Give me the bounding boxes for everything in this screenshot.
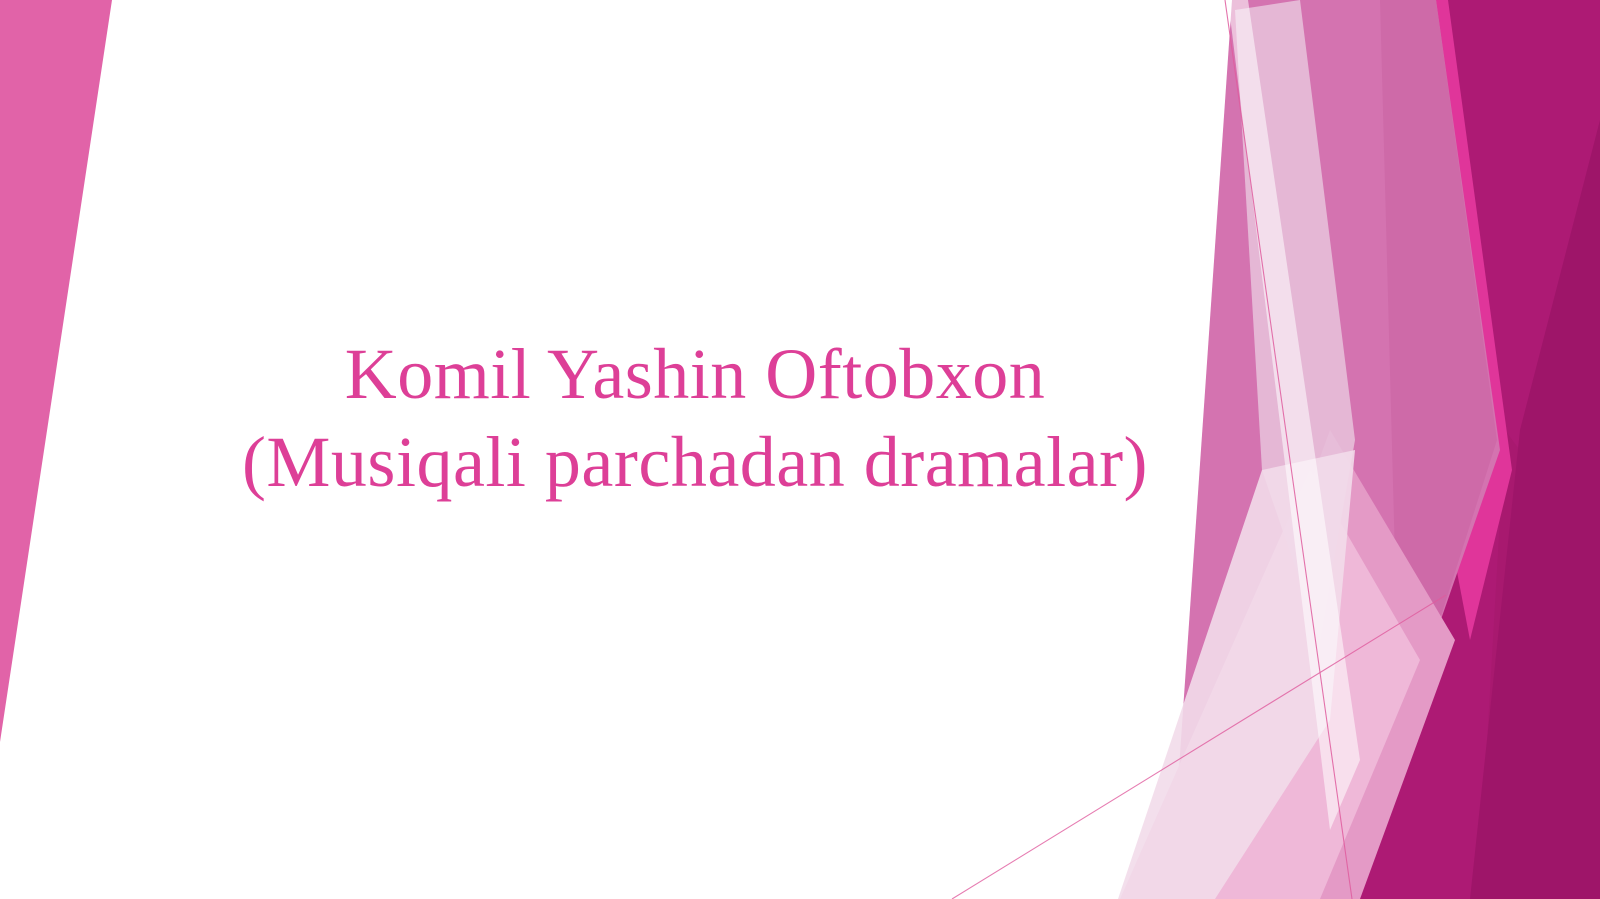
facet-deep-edge <box>1470 120 1600 899</box>
hairline-diagonal <box>952 595 1446 899</box>
title-line-1: Komil Yashin Oftobxon <box>0 330 1390 418</box>
slide-canvas: Komil Yashin Oftobxon (Musiqali parchada… <box>0 0 1600 899</box>
facet-mid-pink-overlay <box>1380 0 1497 745</box>
facet-bright-sliver <box>1430 0 1512 640</box>
page-title: Komil Yashin Oftobxon (Musiqali parchada… <box>0 330 1390 506</box>
facet-pale-pink <box>1235 0 1355 640</box>
title-line-2: (Musiqali parchadan dramalar) <box>0 418 1390 506</box>
facet-light-pink <box>1120 470 1420 899</box>
facet-very-pale-pink <box>1118 450 1355 899</box>
